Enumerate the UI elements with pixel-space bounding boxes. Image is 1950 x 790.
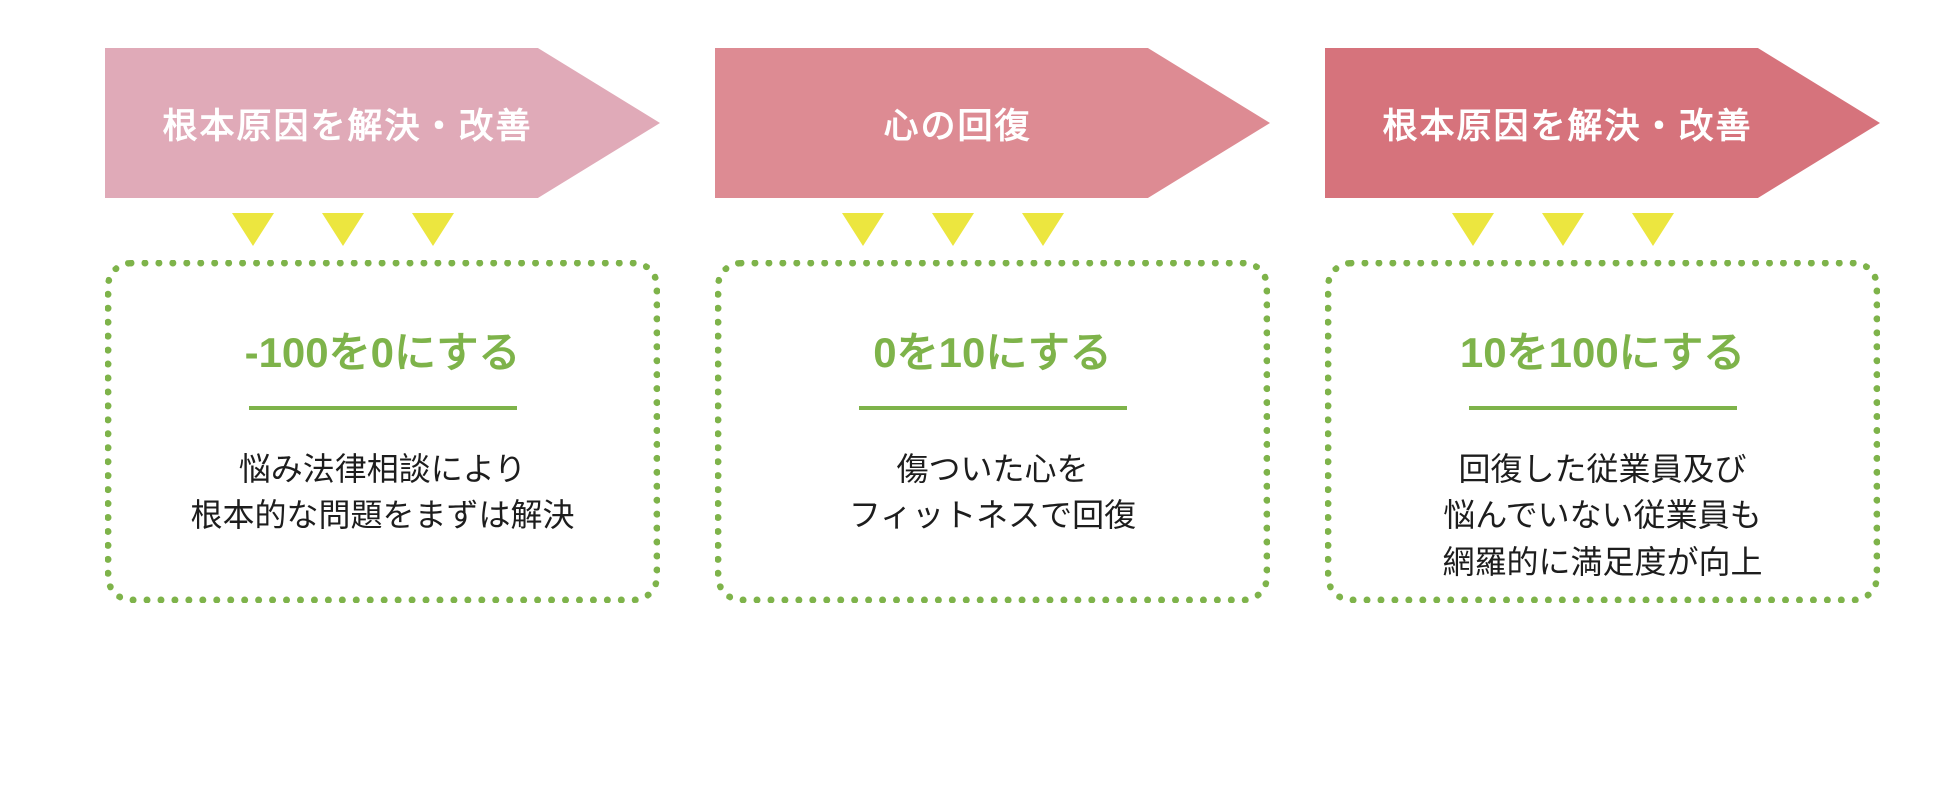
stage-2-arrow-group: [715, 198, 1270, 260]
stage-2-card-title: 0を10にする: [873, 319, 1112, 380]
stage-1-arrow-banner: 根本原因を解決・改善: [105, 48, 660, 198]
stage-1-banner-wrap: 根本原因を解決・改善: [105, 48, 660, 198]
down-triangle-icon: [232, 213, 274, 246]
stage-1-card-title: -100を0にする: [245, 319, 521, 380]
stage-2-banner-wrap: 心の回復: [715, 48, 1270, 198]
stage-1-arrow-group: [105, 198, 660, 260]
stage-1-card-body: 悩み法律相談により 根本的な問題をまずは解決: [190, 446, 574, 539]
down-triangle-icon: [412, 213, 454, 246]
three-stage-process-diagram: 根本原因を解決・改善 -100を0にする 悩み法律相談により 根本的な問題をまず…: [0, 0, 1950, 790]
down-triangle-icon: [842, 213, 884, 246]
stage-2-banner-label: 心の回復: [883, 98, 1031, 149]
stage-1-banner-label: 根本原因を解決・改善: [162, 98, 532, 149]
stage-3-card-body: 回復した従業員及び 悩んでいない従業員も 網羅的に満足度が向上: [1442, 446, 1762, 585]
down-triangle-icon: [322, 213, 364, 246]
down-triangle-icon: [1632, 213, 1674, 246]
down-triangle-icon: [1542, 213, 1584, 246]
stage-3-divider: [1469, 406, 1737, 410]
process-stage-1: 根本原因を解決・改善 -100を0にする 悩み法律相談により 根本的な問題をまず…: [105, 0, 660, 603]
down-triangle-icon: [1022, 213, 1064, 246]
stage-3-banner-label: 根本原因を解決・改善: [1382, 98, 1752, 149]
diagram-canvas: 根本原因を解決・改善 -100を0にする 悩み法律相談により 根本的な問題をまず…: [0, 0, 1950, 790]
stage-2-arrow-banner: 心の回復: [715, 48, 1270, 198]
stage-3-arrow-banner: 根本原因を解決・改善: [1325, 48, 1880, 198]
stage-3-card: 10を100にする 回復した従業員及び 悩んでいない従業員も 網羅的に満足度が向…: [1325, 260, 1880, 603]
down-triangle-icon: [1452, 213, 1494, 246]
stage-3-card-title: 10を100にする: [1460, 319, 1745, 380]
down-triangle-icon: [932, 213, 974, 246]
stage-2-divider: [859, 406, 1127, 410]
stage-2-card-body: 傷ついた心を フィットネスで回復: [849, 446, 1136, 539]
stage-1-divider: [249, 406, 517, 410]
stage-1-card: -100を0にする 悩み法律相談により 根本的な問題をまずは解決: [105, 260, 660, 603]
stage-3-arrow-group: [1325, 198, 1880, 260]
process-stage-3: 根本原因を解決・改善 10を100にする 回復した従業員及び 悩んでいない従業員…: [1325, 0, 1880, 603]
stage-3-banner-wrap: 根本原因を解決・改善: [1325, 48, 1880, 198]
process-stage-2: 心の回復 0を10にする 傷ついた心を フィットネスで回復: [715, 0, 1270, 603]
stage-2-card: 0を10にする 傷ついた心を フィットネスで回復: [715, 260, 1270, 603]
